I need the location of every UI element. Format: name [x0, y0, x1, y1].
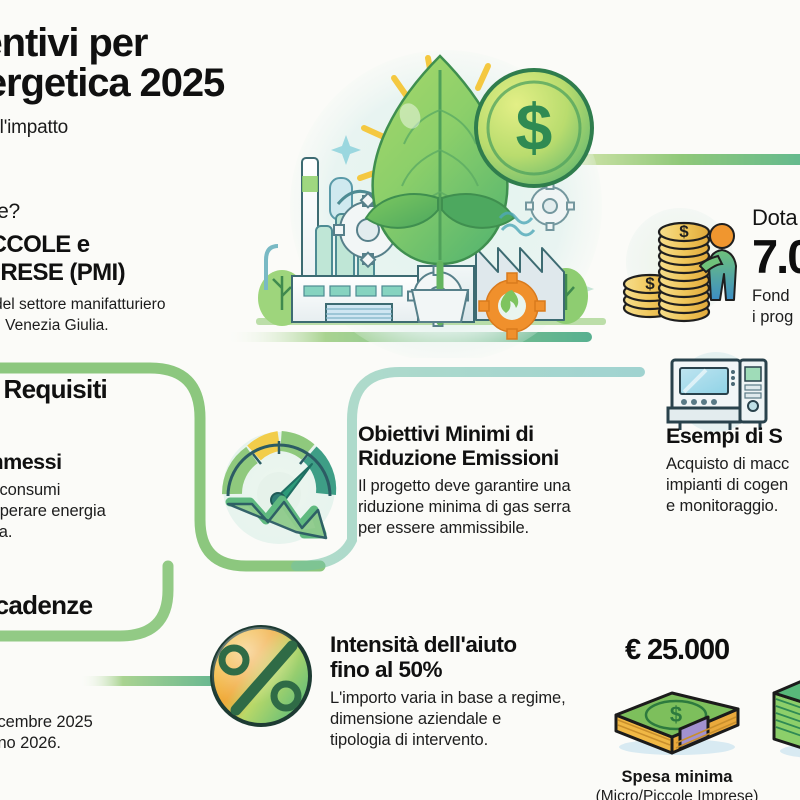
svg-text:$: $ — [645, 274, 655, 293]
card-esempi-body-line3: e monitoraggio. — [666, 496, 800, 517]
card-intensita: Intensità dell'aiuto fino al 50% L'impor… — [330, 632, 600, 751]
card-scadenze-title-line3: e — [0, 680, 186, 704]
money-minima-subcaption: (Micro/Piccole Imprese) — [596, 788, 759, 800]
card-interventi-title-line2: nti Ammessi — [0, 450, 220, 474]
infographic-canvas: ncentivi per Energetica 2025 getici e l'… — [0, 0, 800, 800]
money-media-block: € 5 Spe (Med — [744, 618, 800, 800]
svg-text:$: $ — [516, 90, 553, 164]
card-interventi-body-line2: per recuperare energia — [0, 501, 220, 522]
card-interventi-title-line1: e di — [0, 426, 220, 450]
card-obiettivi-title-line2: Riduzione Emissioni — [358, 446, 608, 470]
money-minima-amount: € 25.000 — [625, 634, 729, 667]
dotazione-block: Dota 7.0 Fond i prog — [752, 205, 800, 327]
card-scadenze-title-line1: di — [0, 632, 186, 656]
money-minima-caption: Spesa minima — [622, 768, 733, 787]
card-interventi-body-line1: ridurre i consumi — [0, 480, 220, 501]
card-esempi-title: Esempi di S — [666, 424, 800, 448]
card-interventi: e di nti Ammessi ridurre i consumi per r… — [0, 426, 220, 543]
card-intensita-body-line1: L'importo varia in base a regime, — [330, 688, 600, 709]
card-intensita-title-line1: Intensità dell'aiuto — [330, 632, 600, 657]
svg-text:$: $ — [670, 702, 682, 727]
section-heading-requisiti: bili e Requisiti — [0, 374, 107, 405]
card-interventi-body-line3: gas serra. — [0, 522, 220, 543]
card-esempi-body-line2: impianti di cogen — [666, 475, 800, 496]
cash-bundle-icon: $ — [602, 667, 752, 764]
card-scadenze: di azione e del 15 dicembre 2025 l 15 gi… — [0, 632, 186, 754]
card-obiettivi-body-line1: Il progetto deve garantire una — [358, 476, 608, 497]
section-heading-scadenze: Scadenze — [0, 590, 92, 621]
dotazione-icon: $ $ — [622, 196, 746, 337]
percent-circle-icon — [206, 620, 316, 735]
cash-bundle-icon — [764, 651, 800, 768]
dotazione-label: Dota — [752, 205, 800, 231]
card-obiettivi-title-line1: Obiettivi Minimi di — [358, 422, 608, 446]
svg-text:$: $ — [679, 222, 689, 241]
card-scadenze-title-line2: azione — [0, 656, 186, 680]
card-scadenze-body-line1: del 15 dicembre 2025 — [0, 712, 186, 733]
card-scadenze-body-line2: l 15 giugno 2026. — [0, 733, 186, 754]
card-obiettivi-body-line3: per essere ammissibile. — [358, 518, 608, 539]
card-intensita-body-line3: tipologia di intervento. — [330, 730, 600, 751]
card-esempi: Esempi di S Acquisto di macc impianti di… — [666, 424, 800, 517]
dotazione-note-line2: i prog — [752, 307, 800, 328]
hero-illustration: $ — [250, 18, 610, 358]
dotazione-note-line1: Fond — [752, 286, 800, 307]
dotazione-amount: 7.0 — [752, 233, 800, 281]
card-obiettivi: Obiettivi Minimi di Riduzione Emissioni … — [358, 422, 608, 539]
card-intensita-body-line2: dimensione aziendale e — [330, 709, 600, 730]
card-esempi-body-line1: Acquisto di macc — [666, 454, 800, 475]
card-obiettivi-body-line2: riduzione minima di gas serra — [358, 497, 608, 518]
card-intensita-title-line2: fino al 50% — [330, 657, 600, 682]
gauge-decreasing-icon — [208, 414, 350, 561]
